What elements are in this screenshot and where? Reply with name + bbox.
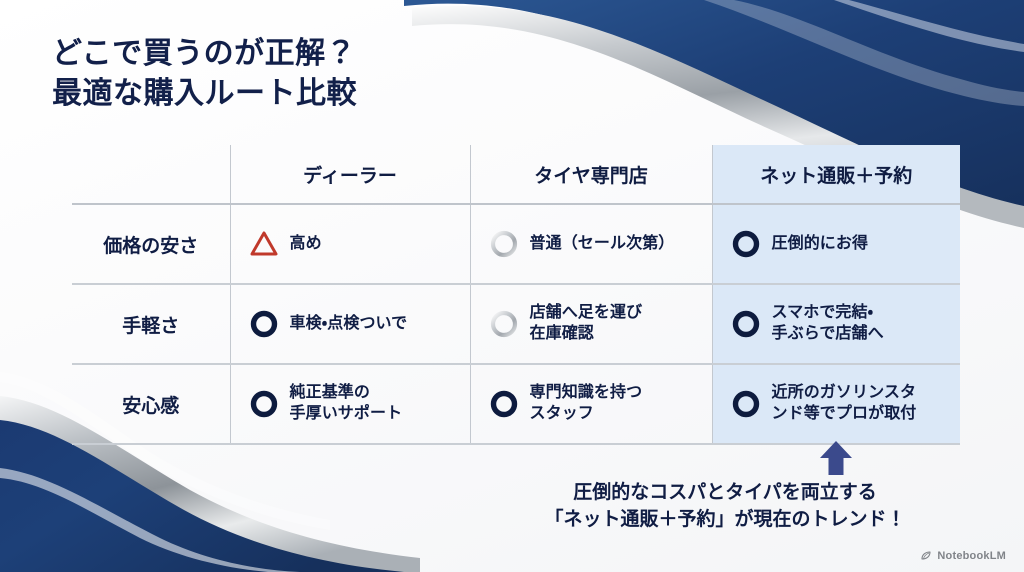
table-row: 安心感 純正基準の手厚いサポート xyxy=(72,364,960,444)
circle-good-icon xyxy=(249,309,279,339)
cell-price-online: 圧倒的にお得 xyxy=(712,204,960,284)
up-arrow-icon xyxy=(816,438,856,478)
notebooklm-icon xyxy=(920,550,932,562)
row-label-reliability: 安心感 xyxy=(72,364,230,444)
conclusion-caption: 圧倒的なコスパとタイパを両立する 「ネット通販＋予約」が現在のトレンド！ xyxy=(470,480,980,534)
table-row: 価格の安さ 高め xyxy=(72,204,960,284)
cell-text: 車検・点検ついで xyxy=(290,314,408,335)
cell-convenience-tire-shop: 店舗へ足を運び在庫確認 xyxy=(470,284,712,364)
cell-text: 店舗へ足を運び在庫確認 xyxy=(530,303,643,345)
cell-text: スマホで完結・手ぶらで店舗へ xyxy=(772,303,884,345)
slide-canvas: どこで買うのが正解？ 最適な購入ルート比較 ディーラー タイヤ専門店 ネット通販… xyxy=(0,0,1024,572)
slide-title: どこで買うのが正解？ 最適な購入ルート比較 xyxy=(52,34,357,113)
cell-convenience-online: スマホで完結・手ぶらで店舗へ xyxy=(712,284,960,364)
cell-text: 圧倒的にお得 xyxy=(772,234,869,255)
cell-price-dealer: 高め xyxy=(230,204,470,284)
caption-line-2: 「ネット通販＋予約」が現在のトレンド！ xyxy=(470,507,980,534)
caption-line-1: 圧倒的なコスパとタイパを両立する xyxy=(470,480,980,507)
table-row: 手軽さ 車検・点検ついで xyxy=(72,284,960,364)
cell-text: 近所のガソリンスタンド等でプロが取付 xyxy=(772,383,917,425)
circle-good-icon xyxy=(731,309,761,339)
title-line-2: 最適な購入ルート比較 xyxy=(52,74,357,114)
table-header-row: ディーラー タイヤ専門店 ネット通販＋予約 xyxy=(72,145,960,204)
row-label-price: 価格の安さ xyxy=(72,204,230,284)
cell-reliability-online: 近所のガソリンスタンド等でプロが取付 xyxy=(712,364,960,444)
cell-reliability-dealer: 純正基準の手厚いサポート xyxy=(230,364,470,444)
circle-good-icon xyxy=(249,389,279,419)
cell-text: 高め xyxy=(290,234,322,255)
column-header-tire-shop: タイヤ専門店 xyxy=(470,145,712,204)
notebooklm-watermark: NotebookLM xyxy=(920,550,1006,562)
comparison-table-wrapper: ディーラー タイヤ専門店 ネット通販＋予約 価格の安さ 高め xyxy=(72,145,960,445)
column-header-online: ネット通販＋予約 xyxy=(712,145,960,204)
row-label-convenience: 手軽さ xyxy=(72,284,230,364)
column-header-dealer: ディーラー xyxy=(230,145,470,204)
table-corner-cell xyxy=(72,145,230,204)
cell-text: 普通（セール次第） xyxy=(530,234,675,255)
cell-text: 純正基準の手厚いサポート xyxy=(290,383,403,425)
watermark-label: NotebookLM xyxy=(937,550,1006,562)
circle-good-icon xyxy=(731,229,761,259)
cell-price-tire-shop: 普通（セール次第） xyxy=(470,204,712,284)
title-line-1: どこで買うのが正解？ xyxy=(52,34,357,74)
circle-fair-icon xyxy=(489,309,519,339)
triangle-bad-icon xyxy=(249,229,279,259)
table-body: 価格の安さ 高め xyxy=(72,204,960,444)
cell-text: 専門知識を持つスタッフ xyxy=(530,383,643,425)
circle-fair-icon xyxy=(489,229,519,259)
cell-convenience-dealer: 車検・点検ついで xyxy=(230,284,470,364)
cell-reliability-tire-shop: 専門知識を持つスタッフ xyxy=(470,364,712,444)
circle-good-icon xyxy=(731,389,761,419)
comparison-table: ディーラー タイヤ専門店 ネット通販＋予約 価格の安さ 高め xyxy=(72,145,960,445)
circle-good-icon xyxy=(489,389,519,419)
